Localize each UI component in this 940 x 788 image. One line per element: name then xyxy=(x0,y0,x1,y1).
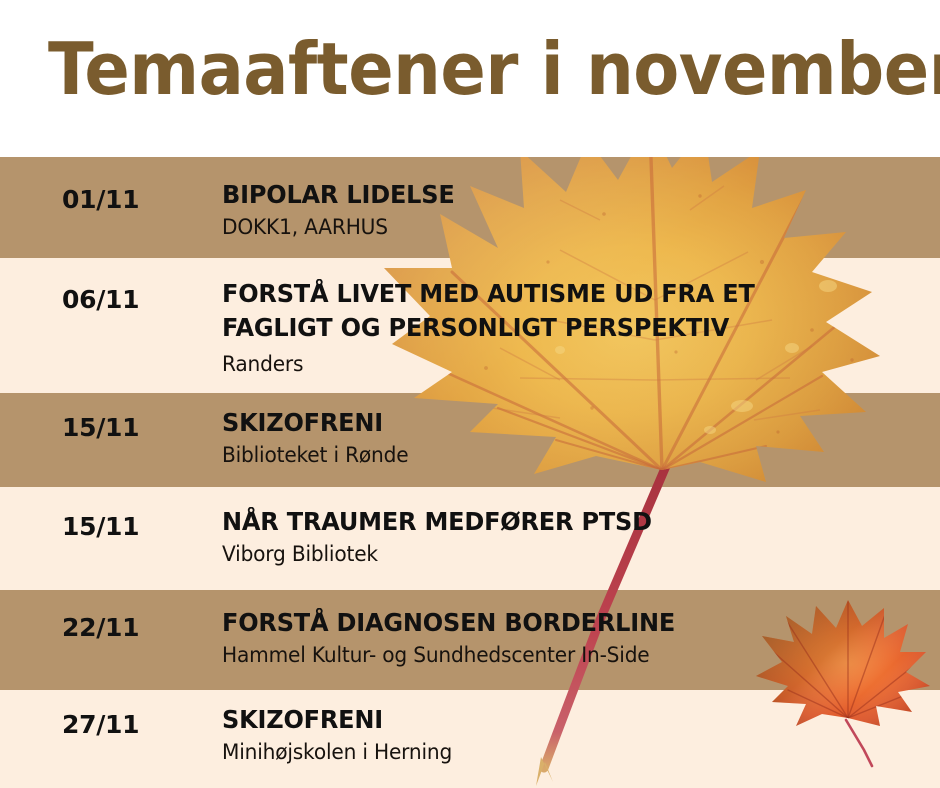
poster-root: Temaaftener i november 01/11 BIPOLAR LID… xyxy=(0,0,940,788)
event-title-line-1: FORSTÅ LIVET MED AUTISME UD FRA ET xyxy=(222,278,894,310)
event-date: 01/11 xyxy=(62,185,212,215)
event-body: FORSTÅ DIAGNOSEN BORDERLINE Hammel Kultu… xyxy=(222,607,922,669)
schedule-row[interactable]: 15/11 SKIZOFRENI Biblioteket i Rønde xyxy=(0,393,940,487)
event-title: FORSTÅ DIAGNOSEN BORDERLINE xyxy=(222,607,894,639)
event-body: BIPOLAR LIDELSE DOKK1, AARHUS xyxy=(222,179,922,241)
event-title: NÅR TRAUMER MEDFØRER PTSD xyxy=(222,506,894,538)
event-date: 22/11 xyxy=(62,613,212,643)
event-date: 15/11 xyxy=(62,512,212,542)
event-venue: Biblioteket i Rønde xyxy=(222,441,894,469)
event-title: SKIZOFRENI xyxy=(222,704,894,736)
event-venue: Randers xyxy=(222,350,894,378)
event-venue: Minihøjskolen i Herning xyxy=(222,738,894,766)
event-venue: Hammel Kultur- og Sundhedscenter In-Side xyxy=(222,641,894,669)
title-area: Temaaftener i november xyxy=(0,0,940,157)
event-body: NÅR TRAUMER MEDFØRER PTSD Viborg Bibliot… xyxy=(222,506,922,568)
event-title-line-2: FAGLIGT OG PERSONLIGT PERSPEKTIV xyxy=(222,312,894,344)
schedule-row[interactable]: 22/11 FORSTÅ DIAGNOSEN BORDERLINE Hammel… xyxy=(0,590,940,690)
event-date: 06/11 xyxy=(62,285,212,315)
event-title: BIPOLAR LIDELSE xyxy=(222,179,894,211)
event-venue: Viborg Bibliotek xyxy=(222,540,894,568)
event-body: SKIZOFRENI Minihøjskolen i Herning xyxy=(222,704,922,766)
event-body: FORSTÅ LIVET MED AUTISME UD FRA ET FAGLI… xyxy=(222,278,922,378)
event-title: SKIZOFRENI xyxy=(222,407,894,439)
event-body: SKIZOFRENI Biblioteket i Rønde xyxy=(222,407,922,469)
schedule-row[interactable]: 15/11 NÅR TRAUMER MEDFØRER PTSD Viborg B… xyxy=(0,487,940,590)
event-date: 27/11 xyxy=(62,710,212,740)
event-venue: DOKK1, AARHUS xyxy=(222,213,894,241)
schedule-row[interactable]: 27/11 SKIZOFRENI Minihøjskolen i Herning xyxy=(0,690,940,788)
schedule-row[interactable]: 01/11 BIPOLAR LIDELSE DOKK1, AARHUS xyxy=(0,157,940,258)
schedule-row[interactable]: 06/11 FORSTÅ LIVET MED AUTISME UD FRA ET… xyxy=(0,258,940,393)
page-title: Temaaftener i november xyxy=(48,26,940,112)
event-date: 15/11 xyxy=(62,413,212,443)
